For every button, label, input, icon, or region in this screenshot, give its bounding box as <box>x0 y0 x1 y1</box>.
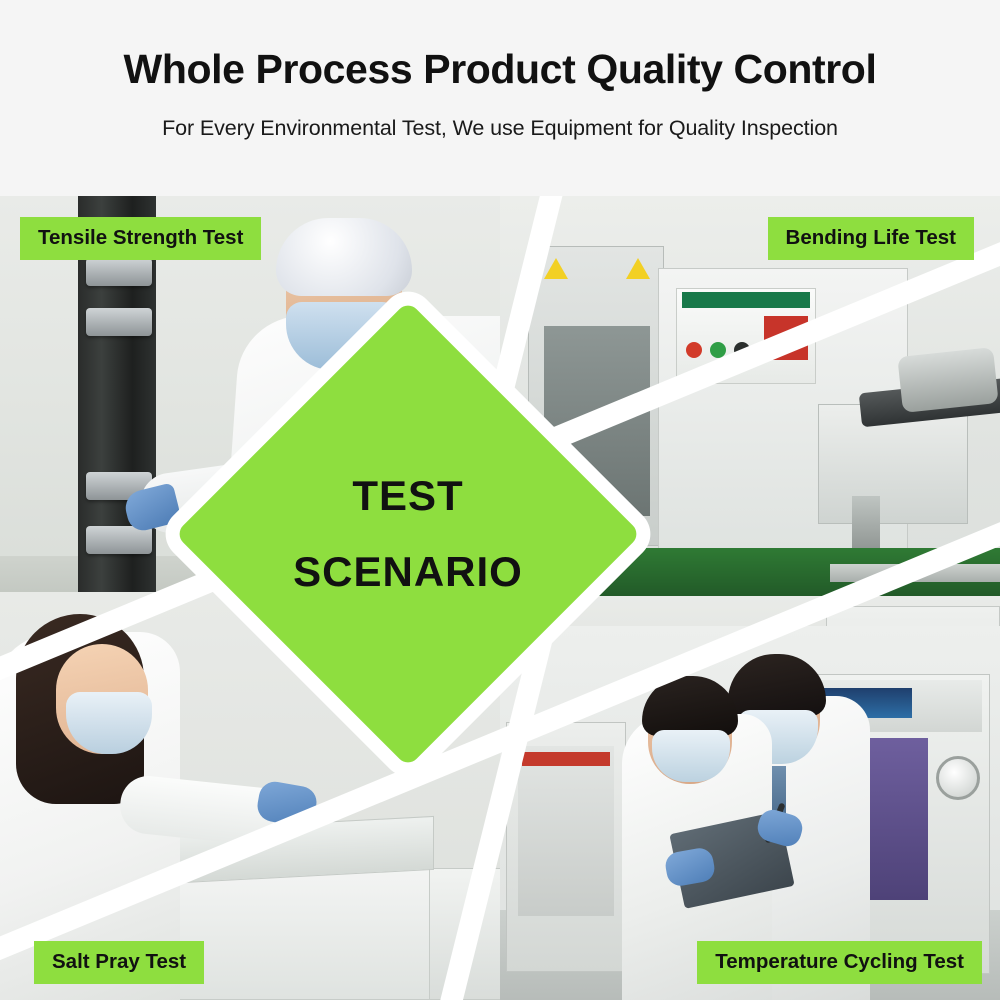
page-subtitle: For Every Environmental Test, We use Equ… <box>162 116 838 141</box>
label-bending-life-test: Bending Life Test <box>768 217 974 260</box>
page-title: Whole Process Product Quality Control <box>124 47 877 92</box>
badge-line-2: SCENARIO <box>293 548 523 596</box>
label-temperature-cycling-test: Temperature Cycling Test <box>697 941 982 984</box>
label-salt-spray-test: Salt Pray Test <box>34 941 204 984</box>
photo-collage: TEST SCENARIO Tensile Strength Test Bend… <box>0 196 1000 1000</box>
badge-line-1: TEST <box>352 472 463 520</box>
label-tensile-strength-test: Tensile Strength Test <box>20 217 261 260</box>
quality-control-infographic: Whole Process Product Quality Control Fo… <box>0 0 1000 1000</box>
test-scenario-badge: TEST SCENARIO <box>175 301 642 768</box>
header-banner: Whole Process Product Quality Control Fo… <box>0 0 1000 196</box>
